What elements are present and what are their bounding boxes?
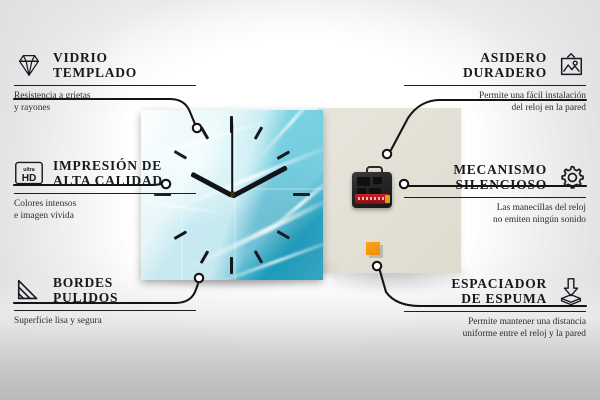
feature-header: VIDRIO TEMPLADO	[14, 50, 226, 80]
feature-title: ASIDERO DURADERO	[463, 50, 547, 80]
diamond-icon	[14, 50, 44, 80]
feature-title: MECANISMO SILENCIOSO	[453, 162, 547, 192]
feature-vidrio-templado: VIDRIO TEMPLADO Resistencia a grietas y …	[14, 50, 226, 115]
feature-title: ESPACIADOR DE ESPUMA	[451, 276, 547, 306]
feature-divider	[404, 197, 586, 198]
feature-divider	[14, 310, 196, 311]
feature-impresion-alta-calidad: ultra HD IMPRESIÓN DE ALTA CALIDAD Color…	[14, 158, 226, 223]
feature-bordes-pulidos: BORDES PULIDOS Superficie lisa y segura	[14, 275, 226, 328]
polished-edges-icon	[14, 275, 44, 305]
mechanism-slot	[357, 177, 370, 186]
feature-header: ultra HD IMPRESIÓN DE ALTA CALIDAD	[14, 158, 226, 188]
svg-text:HD: HD	[22, 173, 37, 184]
feature-header: MECANISMO SILENCIOSO	[374, 162, 586, 192]
feature-title: IMPRESIÓN DE ALTA CALIDAD	[53, 158, 163, 188]
feature-asidero-duradero: ASIDERO DURADERO Permite una fácil insta…	[374, 50, 586, 115]
foam-spacer	[366, 242, 380, 255]
feature-divider	[404, 311, 586, 312]
feature-divider	[14, 85, 196, 86]
feature-header: BORDES PULIDOS	[14, 275, 226, 305]
gear-icon	[556, 162, 586, 192]
infographic-canvas: VIDRIO TEMPLADO Resistencia a grietas y …	[0, 0, 600, 400]
ultra-hd-icon: ultra HD	[14, 158, 44, 188]
foam-spacer-icon	[556, 276, 586, 306]
feature-espaciador-de-espuma: ESPACIADOR DE ESPUMA Permite mantener un…	[374, 276, 586, 341]
feature-divider	[14, 193, 196, 194]
feature-title: BORDES PULIDOS	[53, 275, 118, 305]
feature-header: ESPACIADOR DE ESPUMA	[374, 276, 586, 306]
feature-header: ASIDERO DURADERO	[374, 50, 586, 80]
feature-title: VIDRIO TEMPLADO	[53, 50, 137, 80]
picture-hanger-icon	[556, 50, 586, 80]
feature-mecanismo-silencioso: MECANISMO SILENCIOSO Las manecillas del …	[374, 162, 586, 227]
feature-divider	[404, 85, 586, 86]
